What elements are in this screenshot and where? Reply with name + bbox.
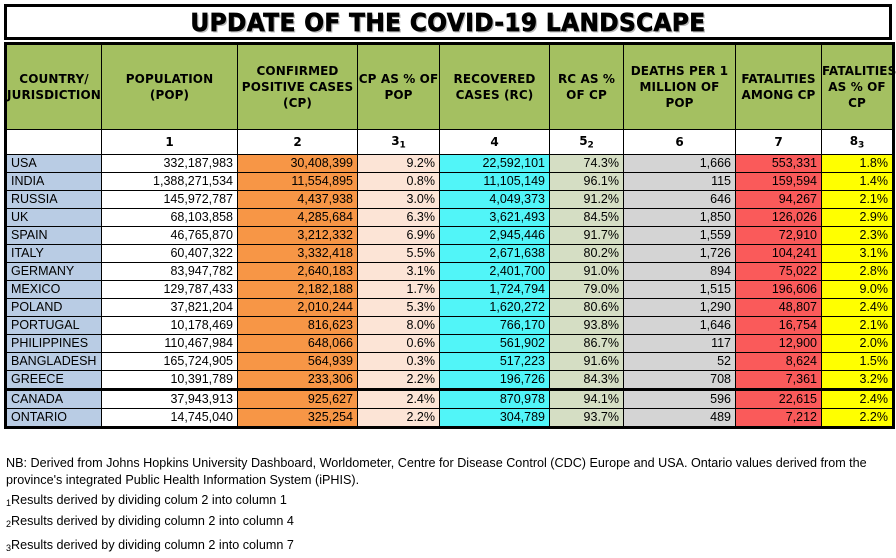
column-number-fat: 7 bbox=[736, 130, 822, 155]
note-source: NB: Derived from Johns Hopkins Universit… bbox=[4, 455, 892, 488]
column-header-line: (CP) bbox=[238, 95, 357, 111]
cell-deaths: 117 bbox=[624, 335, 736, 353]
cell-cp: 925,627 bbox=[238, 390, 358, 409]
cell-pop: 1,388,271,534 bbox=[102, 173, 238, 191]
cell-rcpct: 94.1% bbox=[550, 390, 624, 409]
cell-deaths: 115 bbox=[624, 173, 736, 191]
column-header-pop: POPULATION(POP) bbox=[102, 44, 238, 130]
cell-cppct: 0.8% bbox=[358, 173, 440, 191]
cell-country: RUSSIA bbox=[6, 191, 102, 209]
cell-pop: 129,787,433 bbox=[102, 281, 238, 299]
cell-fat: 7,361 bbox=[736, 371, 822, 390]
cell-rc: 766,170 bbox=[440, 317, 550, 335]
cell-deaths: 1,726 bbox=[624, 245, 736, 263]
cell-fat: 104,241 bbox=[736, 245, 822, 263]
cell-cp: 3,332,418 bbox=[238, 245, 358, 263]
table-row: ITALY60,407,3223,332,4185.5%2,671,63880.… bbox=[6, 245, 894, 263]
cell-deaths: 52 bbox=[624, 353, 736, 371]
column-number-value: 8 bbox=[850, 134, 858, 148]
cell-rcpct: 93.8% bbox=[550, 317, 624, 335]
cell-cp: 3,212,332 bbox=[238, 227, 358, 245]
cell-fat: 22,615 bbox=[736, 390, 822, 409]
footnote-text: Results derived by dividing column 2 int… bbox=[11, 538, 294, 552]
column-number-deaths: 6 bbox=[624, 130, 736, 155]
table-row: CANADA37,943,913925,6272.4%870,97894.1%5… bbox=[6, 390, 894, 409]
column-header-line: RECOVERED bbox=[440, 71, 549, 87]
cell-rcpct: 93.7% bbox=[550, 409, 624, 428]
column-header-line: CONFIRMED bbox=[238, 63, 357, 79]
column-header-rcpct: RC AS %OF CP bbox=[550, 44, 624, 130]
column-number-row: 12314526783 bbox=[6, 130, 894, 155]
cell-rcpct: 84.3% bbox=[550, 371, 624, 390]
cell-rcpct: 91.0% bbox=[550, 263, 624, 281]
covid-data-table: COUNTRY/JURISDICTIONPOPULATION(POP)CONFI… bbox=[4, 42, 895, 429]
column-header-deaths: DEATHS PER 1MILLION OFPOP bbox=[624, 44, 736, 130]
column-header-line: (POP) bbox=[102, 87, 237, 103]
column-header-line: RC AS % bbox=[550, 71, 623, 87]
table-body: USA332,187,98330,408,3999.2%22,592,10174… bbox=[6, 155, 894, 428]
footnote-text: Results derived by dividing colum 2 into… bbox=[11, 493, 287, 507]
cell-rc: 1,620,272 bbox=[440, 299, 550, 317]
table-row: POLAND37,821,2042,010,2445.3%1,620,27280… bbox=[6, 299, 894, 317]
column-header-line: CASES (RC) bbox=[440, 87, 549, 103]
cell-fatpct: 2.3% bbox=[822, 227, 894, 245]
cell-cppct: 2.2% bbox=[358, 409, 440, 428]
cell-deaths: 708 bbox=[624, 371, 736, 390]
cell-fatpct: 2.2% bbox=[822, 409, 894, 428]
cell-pop: 68,103,858 bbox=[102, 209, 238, 227]
cell-rcpct: 91.7% bbox=[550, 227, 624, 245]
cell-rc: 870,978 bbox=[440, 390, 550, 409]
column-number-fatpct: 83 bbox=[822, 130, 894, 155]
footnote-list: 1Results derived by dividing colum 2 int… bbox=[4, 492, 892, 554]
cell-fatpct: 2.1% bbox=[822, 317, 894, 335]
cell-cppct: 6.3% bbox=[358, 209, 440, 227]
page-title: UPDATE OF THE COVID-19 LANDSCAPE bbox=[190, 10, 705, 35]
column-header-rc: RECOVEREDCASES (RC) bbox=[440, 44, 550, 130]
table-row: USA332,187,98330,408,3999.2%22,592,10174… bbox=[6, 155, 894, 173]
cell-country: BANGLADESH bbox=[6, 353, 102, 371]
cell-cp: 11,554,895 bbox=[238, 173, 358, 191]
table-row: UK68,103,8584,285,6846.3%3,621,49384.5%1… bbox=[6, 209, 894, 227]
cell-cp: 2,010,244 bbox=[238, 299, 358, 317]
column-header-line: CP AS % OF bbox=[358, 71, 439, 87]
column-header-line: MILLION OF bbox=[624, 79, 735, 95]
cell-rcpct: 79.0% bbox=[550, 281, 624, 299]
column-header-fat: FATALITIESAMONG CP bbox=[736, 44, 822, 130]
cell-fat: 94,267 bbox=[736, 191, 822, 209]
cell-deaths: 596 bbox=[624, 390, 736, 409]
table-row: MEXICO129,787,4332,182,1881.7%1,724,7947… bbox=[6, 281, 894, 299]
title-bar: UPDATE OF THE COVID-19 LANDSCAPE bbox=[4, 4, 892, 40]
cell-pop: 110,467,984 bbox=[102, 335, 238, 353]
column-number-cppct: 31 bbox=[358, 130, 440, 155]
cell-country: PHILIPPINES bbox=[6, 335, 102, 353]
cell-rcpct: 96.1% bbox=[550, 173, 624, 191]
cell-cppct: 3.0% bbox=[358, 191, 440, 209]
column-header-line: AMONG CP bbox=[736, 87, 821, 103]
cell-rcpct: 86.7% bbox=[550, 335, 624, 353]
cell-pop: 14,745,040 bbox=[102, 409, 238, 428]
footnote-item: 2Results derived by dividing column 2 in… bbox=[4, 513, 892, 531]
cell-rc: 561,902 bbox=[440, 335, 550, 353]
cell-fat: 159,594 bbox=[736, 173, 822, 191]
cell-fat: 7,212 bbox=[736, 409, 822, 428]
column-header-line: AS % OF CP bbox=[822, 79, 892, 111]
cell-cp: 648,066 bbox=[238, 335, 358, 353]
cell-cp: 2,640,183 bbox=[238, 263, 358, 281]
cell-fatpct: 1.8% bbox=[822, 155, 894, 173]
cell-deaths: 1,666 bbox=[624, 155, 736, 173]
cell-rc: 2,945,446 bbox=[440, 227, 550, 245]
cell-pop: 46,765,870 bbox=[102, 227, 238, 245]
cell-rcpct: 84.5% bbox=[550, 209, 624, 227]
cell-fatpct: 2.8% bbox=[822, 263, 894, 281]
cell-rc: 1,724,794 bbox=[440, 281, 550, 299]
column-number-value: 5 bbox=[579, 134, 587, 148]
column-header-line: OF CP bbox=[550, 87, 623, 103]
column-header-line: COUNTRY/ bbox=[7, 71, 101, 87]
cell-country: UK bbox=[6, 209, 102, 227]
cell-fatpct: 2.0% bbox=[822, 335, 894, 353]
cell-cppct: 2.4% bbox=[358, 390, 440, 409]
cell-cp: 816,623 bbox=[238, 317, 358, 335]
cell-cppct: 5.5% bbox=[358, 245, 440, 263]
cell-fatpct: 2.4% bbox=[822, 299, 894, 317]
column-header-line: POP bbox=[624, 95, 735, 111]
cell-pop: 145,972,787 bbox=[102, 191, 238, 209]
cell-country: SPAIN bbox=[6, 227, 102, 245]
table-row: ONTARIO14,745,040325,2542.2%304,78993.7%… bbox=[6, 409, 894, 428]
table-row: GREECE10,391,789233,3062.2%196,72684.3%7… bbox=[6, 371, 894, 390]
column-number-footnote-marker: 3 bbox=[858, 140, 864, 150]
cell-fat: 16,754 bbox=[736, 317, 822, 335]
cell-cp: 2,182,188 bbox=[238, 281, 358, 299]
cell-fat: 553,331 bbox=[736, 155, 822, 173]
table-header-row: COUNTRY/JURISDICTIONPOPULATION(POP)CONFI… bbox=[6, 44, 894, 130]
column-number-footnote-marker: 1 bbox=[400, 140, 406, 150]
column-number-value: 2 bbox=[293, 135, 301, 149]
cell-cppct: 9.2% bbox=[358, 155, 440, 173]
cell-fatpct: 3.2% bbox=[822, 371, 894, 390]
cell-pop: 10,178,469 bbox=[102, 317, 238, 335]
cell-country: PORTUGAL bbox=[6, 317, 102, 335]
cell-rcpct: 80.2% bbox=[550, 245, 624, 263]
table-row: BANGLADESH165,724,905564,9390.3%517,2239… bbox=[6, 353, 894, 371]
cell-rc: 11,105,149 bbox=[440, 173, 550, 191]
cell-deaths: 1,646 bbox=[624, 317, 736, 335]
footnote-item: 3Results derived by dividing column 2 in… bbox=[4, 537, 892, 555]
cell-rc: 22,592,101 bbox=[440, 155, 550, 173]
cell-pop: 10,391,789 bbox=[102, 371, 238, 390]
cell-deaths: 489 bbox=[624, 409, 736, 428]
column-header-line: JURISDICTION bbox=[7, 87, 101, 103]
cell-country: ITALY bbox=[6, 245, 102, 263]
cell-cppct: 2.2% bbox=[358, 371, 440, 390]
cell-rcpct: 91.2% bbox=[550, 191, 624, 209]
cell-country: INDIA bbox=[6, 173, 102, 191]
cell-rc: 4,049,373 bbox=[440, 191, 550, 209]
column-header-cp: CONFIRMEDPOSITIVE CASES(CP) bbox=[238, 44, 358, 130]
cell-cp: 30,408,399 bbox=[238, 155, 358, 173]
cell-deaths: 1,515 bbox=[624, 281, 736, 299]
cell-rc: 3,621,493 bbox=[440, 209, 550, 227]
cell-fat: 196,606 bbox=[736, 281, 822, 299]
cell-rcpct: 91.6% bbox=[550, 353, 624, 371]
footnote-text: Results derived by dividing column 2 int… bbox=[11, 514, 294, 528]
cell-fatpct: 2.9% bbox=[822, 209, 894, 227]
table-row: PORTUGAL10,178,469816,6238.0%766,17093.8… bbox=[6, 317, 894, 335]
column-number-value: 4 bbox=[490, 135, 498, 149]
column-header-line: POPULATION bbox=[102, 71, 237, 87]
cell-deaths: 1,290 bbox=[624, 299, 736, 317]
column-number-cp: 2 bbox=[238, 130, 358, 155]
cell-rcpct: 80.6% bbox=[550, 299, 624, 317]
column-header-line: FATALITIES bbox=[736, 71, 821, 87]
cell-pop: 165,724,905 bbox=[102, 353, 238, 371]
cell-deaths: 646 bbox=[624, 191, 736, 209]
column-header-country: COUNTRY/JURISDICTION bbox=[6, 44, 102, 130]
column-number-country bbox=[6, 130, 102, 155]
cell-fatpct: 2.1% bbox=[822, 191, 894, 209]
cell-fat: 126,026 bbox=[736, 209, 822, 227]
table-row: RUSSIA145,972,7874,437,9383.0%4,049,3739… bbox=[6, 191, 894, 209]
cell-fat: 72,910 bbox=[736, 227, 822, 245]
column-header-fatpct: FATALITIESAS % OF CP bbox=[822, 44, 894, 130]
cell-fat: 75,022 bbox=[736, 263, 822, 281]
cell-pop: 37,943,913 bbox=[102, 390, 238, 409]
cell-country: CANADA bbox=[6, 390, 102, 409]
cell-cppct: 5.3% bbox=[358, 299, 440, 317]
column-number-pop: 1 bbox=[102, 130, 238, 155]
cell-pop: 37,821,204 bbox=[102, 299, 238, 317]
cell-pop: 83,947,782 bbox=[102, 263, 238, 281]
cell-rc: 2,671,638 bbox=[440, 245, 550, 263]
column-number-footnote-marker: 2 bbox=[588, 140, 594, 150]
cell-country: USA bbox=[6, 155, 102, 173]
column-number-value: 6 bbox=[675, 135, 683, 149]
cell-cppct: 6.9% bbox=[358, 227, 440, 245]
table-row: GERMANY83,947,7822,640,1833.1%2,401,7009… bbox=[6, 263, 894, 281]
cell-cp: 4,285,684 bbox=[238, 209, 358, 227]
table-row: PHILIPPINES110,467,984648,0660.6%561,902… bbox=[6, 335, 894, 353]
cell-deaths: 894 bbox=[624, 263, 736, 281]
table-row: INDIA1,388,271,53411,554,8950.8%11,105,1… bbox=[6, 173, 894, 191]
cell-rc: 304,789 bbox=[440, 409, 550, 428]
column-number-rcpct: 52 bbox=[550, 130, 624, 155]
table-row: SPAIN46,765,8703,212,3326.9%2,945,44691.… bbox=[6, 227, 894, 245]
column-header-cppct: CP AS % OFPOP bbox=[358, 44, 440, 130]
column-number-value: 1 bbox=[165, 135, 173, 149]
column-number-value: 7 bbox=[774, 135, 782, 149]
column-header-line: FATALITIES bbox=[822, 63, 892, 79]
cell-fat: 12,900 bbox=[736, 335, 822, 353]
cell-fatpct: 1.5% bbox=[822, 353, 894, 371]
cell-country: GREECE bbox=[6, 371, 102, 390]
cell-cppct: 8.0% bbox=[358, 317, 440, 335]
cell-fatpct: 1.4% bbox=[822, 173, 894, 191]
cell-fatpct: 2.4% bbox=[822, 390, 894, 409]
column-number-rc: 4 bbox=[440, 130, 550, 155]
cell-fat: 48,807 bbox=[736, 299, 822, 317]
cell-cp: 4,437,938 bbox=[238, 191, 358, 209]
cell-cppct: 3.1% bbox=[358, 263, 440, 281]
cell-fatpct: 9.0% bbox=[822, 281, 894, 299]
cell-rc: 2,401,700 bbox=[440, 263, 550, 281]
cell-rc: 517,223 bbox=[440, 353, 550, 371]
footnote-item: 1Results derived by dividing colum 2 int… bbox=[4, 492, 892, 510]
cell-rcpct: 74.3% bbox=[550, 155, 624, 173]
cell-fatpct: 3.1% bbox=[822, 245, 894, 263]
data-table-wrapper: COUNTRY/JURISDICTIONPOPULATION(POP)CONFI… bbox=[4, 42, 892, 429]
cell-rc: 196,726 bbox=[440, 371, 550, 390]
cell-pop: 60,407,322 bbox=[102, 245, 238, 263]
column-number-value: 3 bbox=[391, 134, 399, 148]
cell-country: GERMANY bbox=[6, 263, 102, 281]
cell-country: ONTARIO bbox=[6, 409, 102, 428]
cell-cppct: 0.6% bbox=[358, 335, 440, 353]
cell-cp: 325,254 bbox=[238, 409, 358, 428]
cell-cp: 233,306 bbox=[238, 371, 358, 390]
cell-country: MEXICO bbox=[6, 281, 102, 299]
cell-pop: 332,187,983 bbox=[102, 155, 238, 173]
column-header-line: DEATHS PER 1 bbox=[624, 63, 735, 79]
cell-fat: 8,624 bbox=[736, 353, 822, 371]
cell-cppct: 1.7% bbox=[358, 281, 440, 299]
column-header-line: POSITIVE CASES bbox=[238, 79, 357, 95]
notes-section: NB: Derived from Johns Hopkins Universit… bbox=[4, 455, 892, 558]
covid-landscape-table-page: UPDATE OF THE COVID-19 LANDSCAPE COUNTRY… bbox=[0, 0, 896, 552]
cell-cppct: 0.3% bbox=[358, 353, 440, 371]
cell-deaths: 1,850 bbox=[624, 209, 736, 227]
cell-country: POLAND bbox=[6, 299, 102, 317]
cell-cp: 564,939 bbox=[238, 353, 358, 371]
column-header-line: POP bbox=[358, 87, 439, 103]
cell-deaths: 1,559 bbox=[624, 227, 736, 245]
